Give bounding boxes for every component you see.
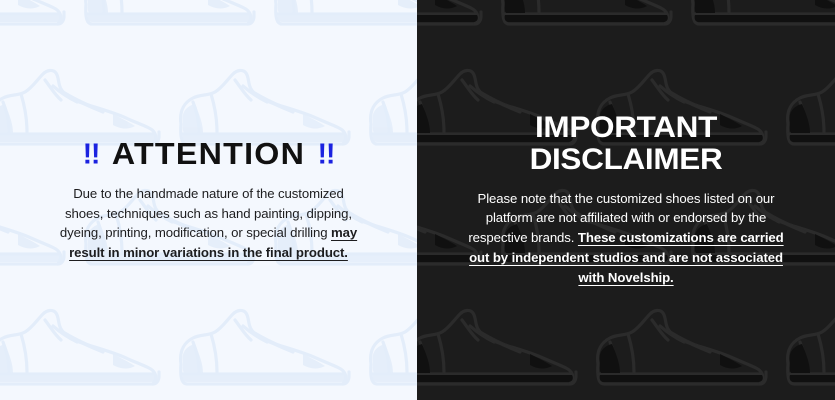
disclaimer-panel: IMPORTANT DISCLAIMER Please note that th… — [417, 0, 835, 400]
disclaimer-heading-line-2: DISCLAIMER — [421, 144, 831, 175]
disclaimer-content: IMPORTANT DISCLAIMER Please note that th… — [417, 112, 835, 287]
disclaimer-heading-line-1: IMPORTANT — [421, 112, 831, 143]
attention-heading-text: ATTENTION — [112, 136, 305, 171]
disclaimer-body: Please note that the customized shoes li… — [465, 189, 787, 288]
attention-panel: !!ATTENTION!! Due to the handmade nature… — [0, 0, 417, 400]
exclamation-left-icon: !! — [83, 140, 100, 169]
disclaimer-banner: !!ATTENTION!! Due to the handmade nature… — [0, 0, 835, 400]
attention-heading: !!ATTENTION!! — [6, 138, 411, 170]
exclamation-right-icon: !! — [318, 140, 335, 169]
attention-content: !!ATTENTION!! Due to the handmade nature… — [0, 138, 417, 263]
disclaimer-heading: IMPORTANT DISCLAIMER — [421, 112, 831, 174]
attention-body: Due to the handmade nature of the custom… — [54, 184, 364, 262]
attention-body-plain: Due to the handmade nature of the custom… — [60, 186, 352, 240]
